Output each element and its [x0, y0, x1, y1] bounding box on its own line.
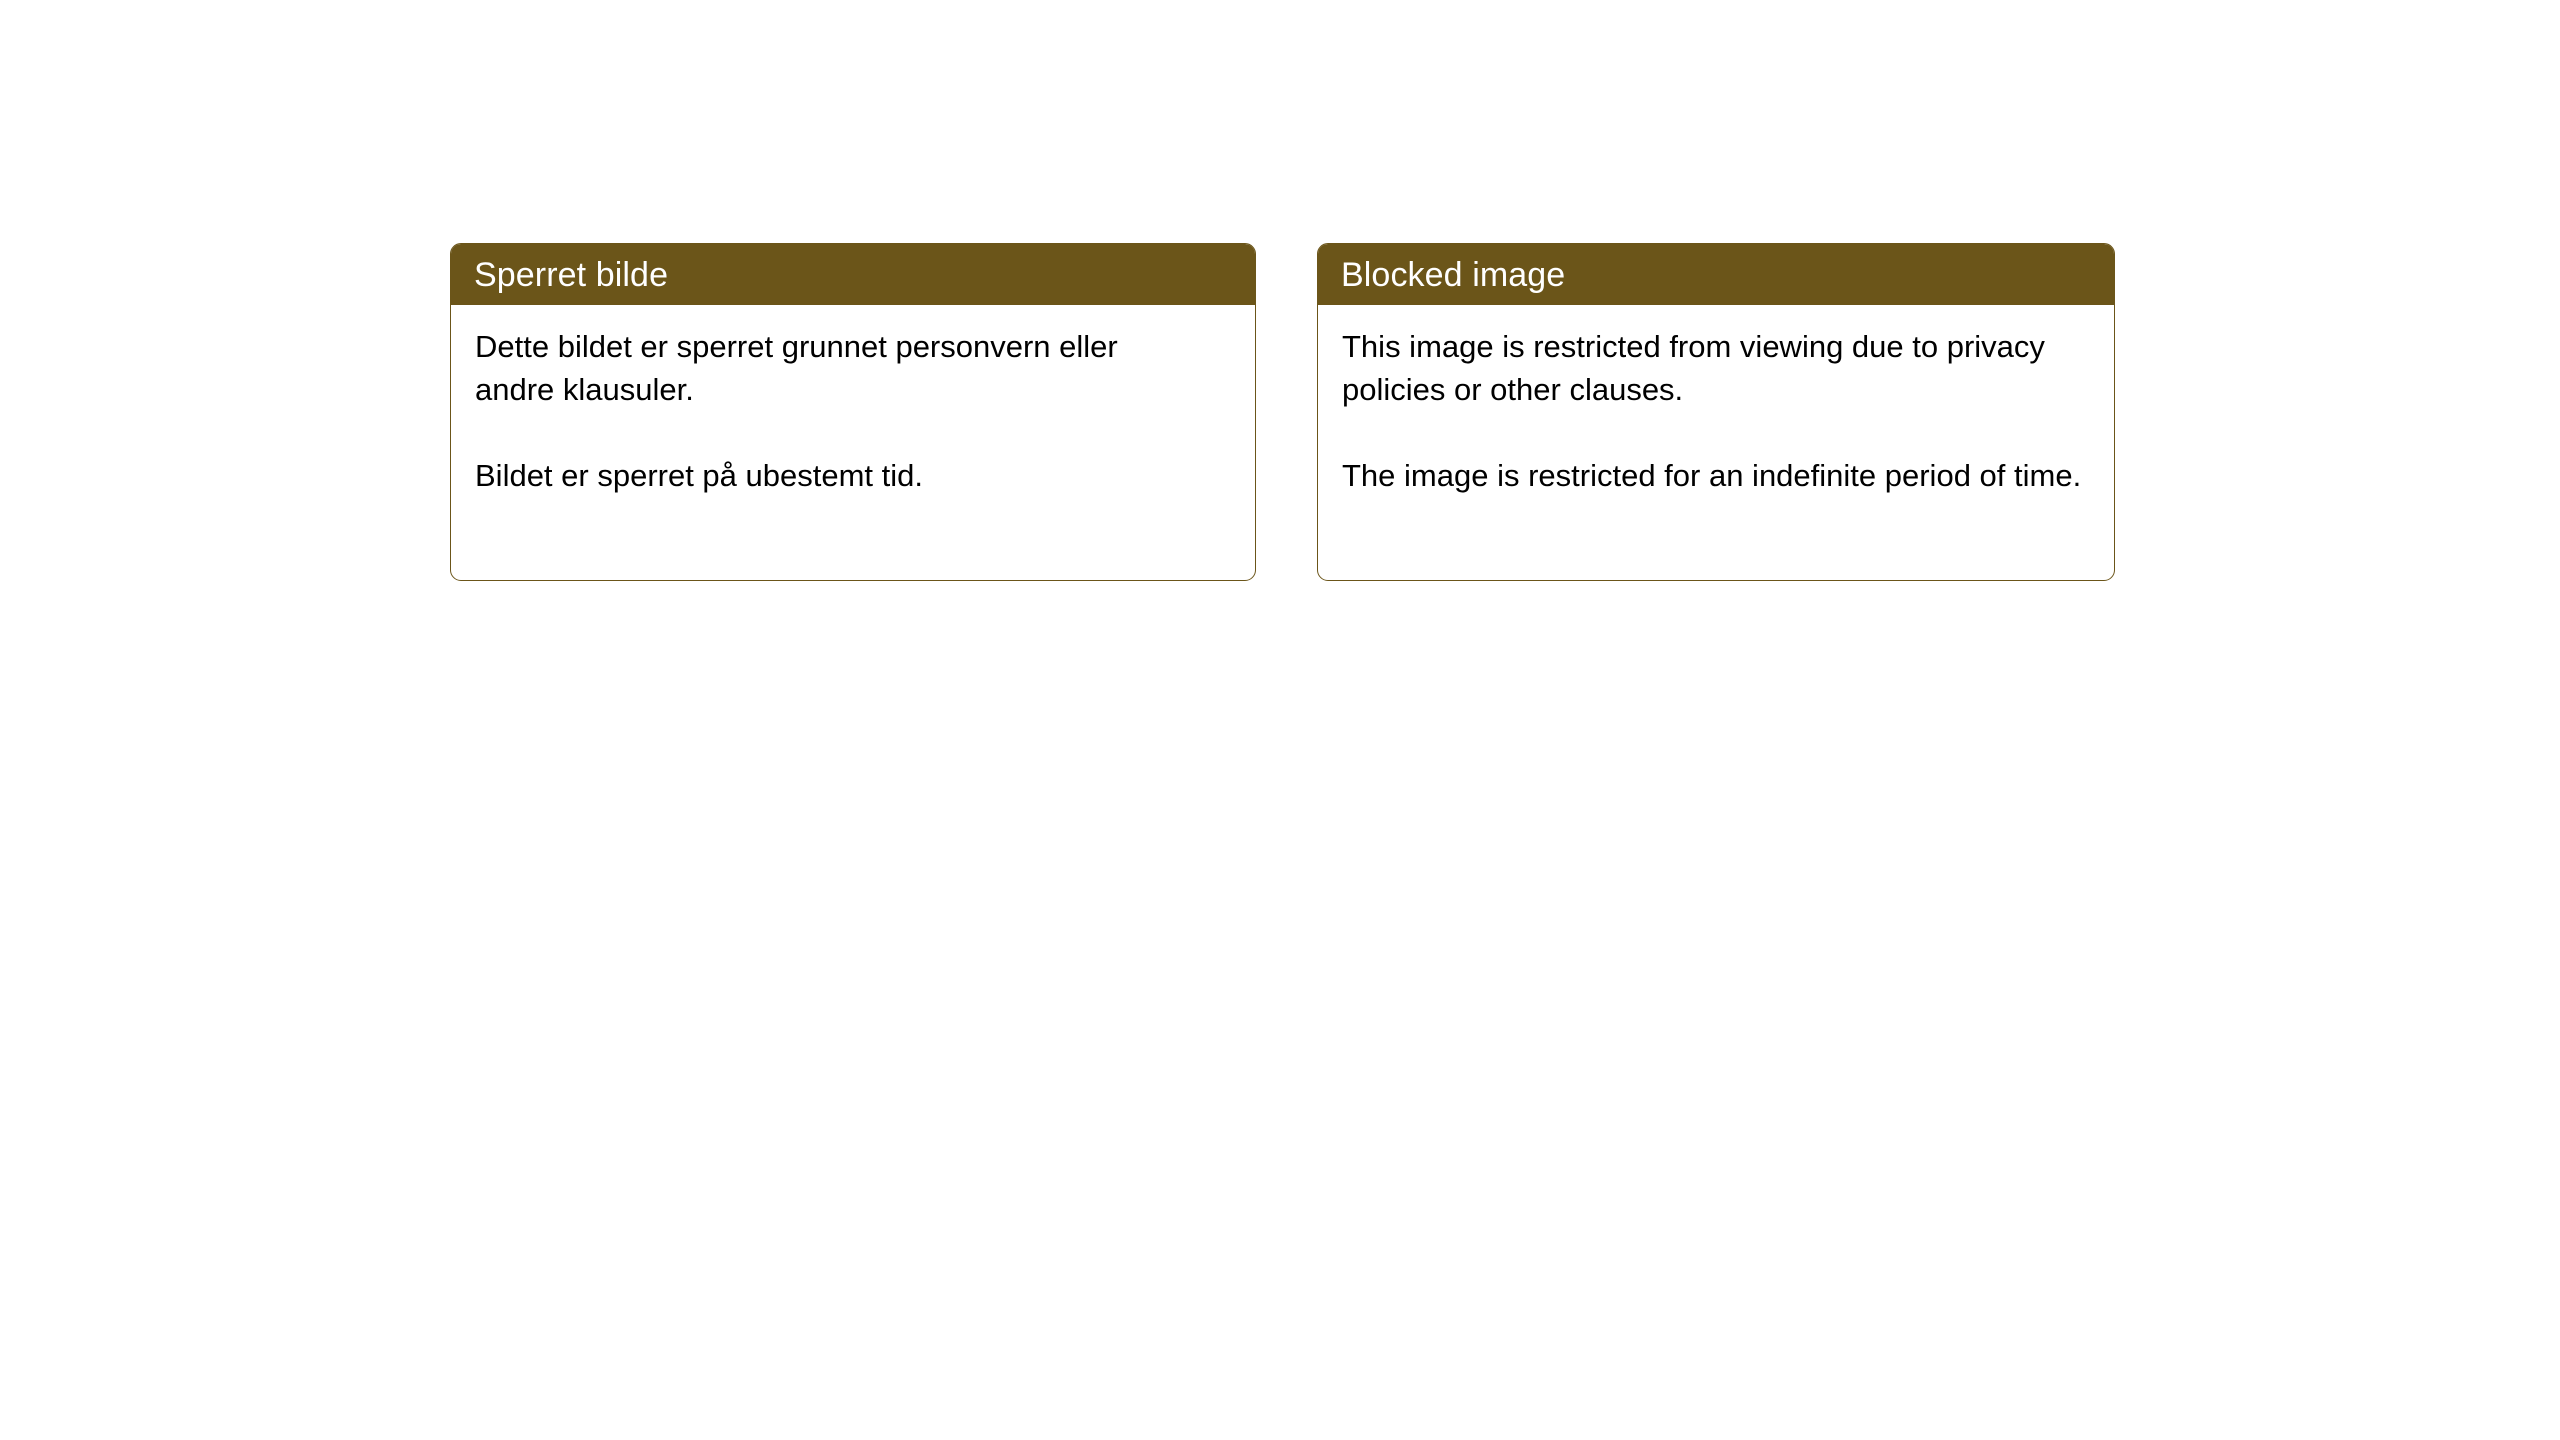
paragraph-spacer: [1342, 411, 2090, 454]
card-body-norwegian: Dette bildet er sperret grunnet personve…: [451, 305, 1255, 580]
card-body-english: This image is restricted from viewing du…: [1318, 305, 2114, 580]
blocked-image-card-norwegian: Sperret bilde Dette bildet er sperret gr…: [450, 243, 1256, 581]
card-paragraph-secondary-norwegian: Bildet er sperret på ubestemt tid.: [475, 454, 1205, 497]
card-paragraph-primary-norwegian: Dette bildet er sperret grunnet personve…: [475, 325, 1205, 411]
card-title-norwegian: Sperret bilde: [474, 256, 668, 294]
blocked-image-notice-group: Sperret bilde Dette bildet er sperret gr…: [450, 243, 2115, 581]
card-header-english: Blocked image: [1318, 244, 2114, 305]
paragraph-spacer: [475, 411, 1231, 454]
card-paragraph-secondary-english: The image is restricted for an indefinit…: [1342, 454, 2082, 497]
card-header-norwegian: Sperret bilde: [451, 244, 1255, 305]
card-paragraph-primary-english: This image is restricted from viewing du…: [1342, 325, 2082, 411]
card-title-english: Blocked image: [1341, 256, 1565, 294]
blocked-image-card-english: Blocked image This image is restricted f…: [1317, 243, 2115, 581]
